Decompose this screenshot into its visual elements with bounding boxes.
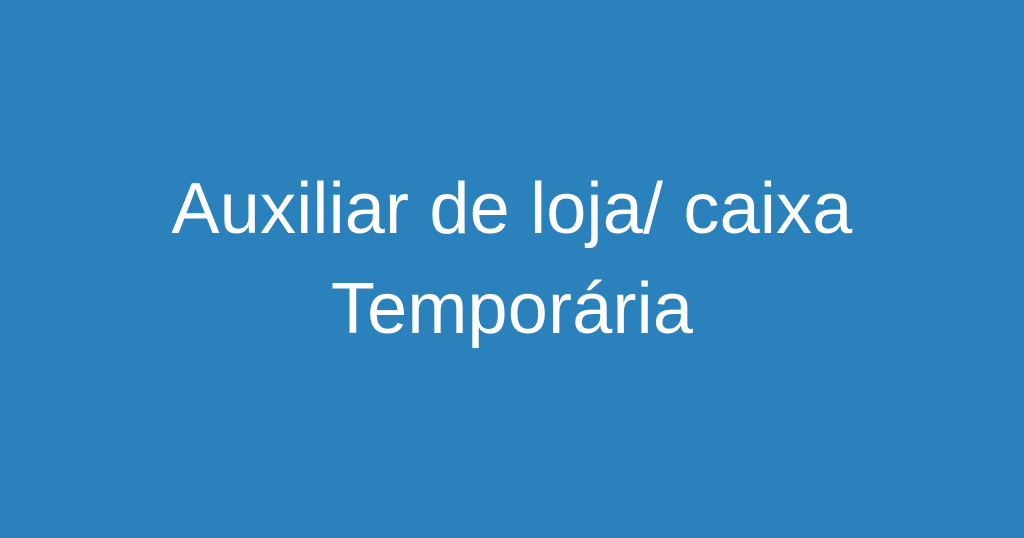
page-title: Auxiliar de loja/ caixa Temporária [74,159,950,359]
job-title-banner: Auxiliar de loja/ caixa Temporária [0,0,1024,538]
banner-title-block: Auxiliar de loja/ caixa Temporária [62,159,962,359]
